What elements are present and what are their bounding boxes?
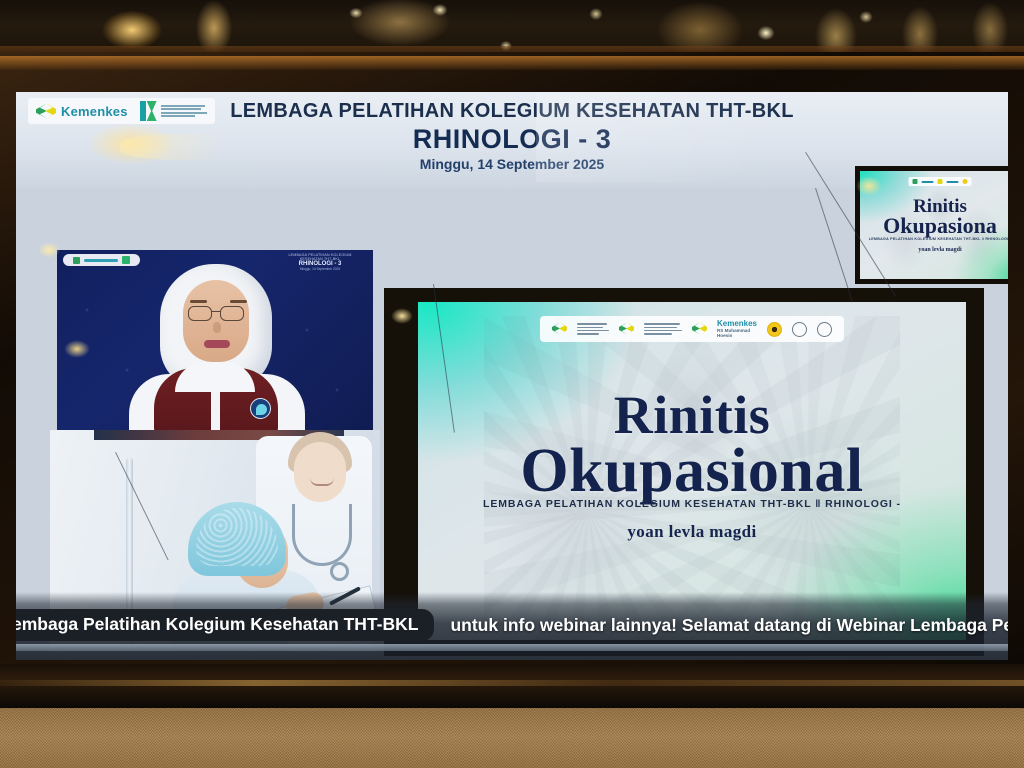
header-organization-title: LEMBAGA PELATIHAN KOLEGIUM KESEHATAN THT… [16, 100, 1008, 123]
slide-logo-strip: Kemenkes RS Muhammad Hoesin [540, 316, 844, 342]
slide-title-line1: Rinitis [418, 388, 966, 442]
badge-bar-icon [84, 259, 118, 262]
room-environment: Kemenkes LEMBAGA PELATIHAN KOLEGIUM KESE… [0, 0, 1024, 768]
webcam-kemenkes-badge [63, 254, 140, 266]
presentation-slide: Kemenkes RS Muhammad Hoesin Rinitis Okup… [418, 302, 966, 640]
ticker-content: embaga Pelatihan Kolegium Kesehatan THT-… [16, 608, 1008, 642]
webcam-background-branding: LEMBAGA PELATIHAN KOLEGIUM KESEHATAN THT… [271, 253, 369, 272]
ticker-channel-label: embaga Pelatihan Kolegium Kesehatan THT-… [16, 609, 434, 641]
slide-emblem-ring2-icon [817, 322, 832, 337]
slide-kemenkes-sub: RS Muhammad Hoesin [717, 328, 757, 338]
tv-bottom-bezel [0, 664, 1024, 708]
speaker-webcam-tile[interactable]: LEMBAGA PELATIHAN KOLEGIUM KESEHATAN THT… [57, 250, 373, 430]
slide-org1-lines-icon [577, 323, 609, 334]
bottom-ticker-bar: embaga Pelatihan Kolegium Kesehatan THT-… [16, 592, 1008, 660]
slide-kemenkes-label: Kemenkes RS Muhammad Hoesin [717, 320, 757, 339]
pip-thumbnail[interactable]: Rinitis Okupasiona LEMBAGA PELATIHAN KOL… [855, 166, 1008, 284]
pip-mark2-icon [938, 179, 943, 184]
slide-kemenkes2-mark-icon [692, 322, 707, 337]
slide-org2-lines-icon [644, 323, 682, 334]
pip-mark1-icon [913, 179, 918, 184]
pip-subtitle: LEMBAGA PELATIHAN KOLEGIUM KESEHATAN THT… [860, 237, 1008, 241]
pip-title-line2: Okupasiona [860, 215, 1008, 237]
slide-kemenkes-mark-icon [552, 322, 567, 337]
slide-org2-mark-icon [619, 322, 634, 337]
header-session-subject: RHINOLOGI - 3 [16, 124, 1008, 155]
speaker-vest-emblem-icon [250, 398, 271, 419]
pip-logo-strip [909, 177, 972, 186]
pip-author: yoan levla magdi [860, 247, 1008, 253]
speaker-face [183, 280, 249, 362]
doctor-head [294, 442, 346, 502]
slide-author: yoan levla magdi [418, 522, 966, 542]
speaker-eyeglasses [188, 306, 244, 319]
speaker-lips [204, 340, 230, 348]
slide-emblem-sun-icon [767, 322, 782, 337]
pip-bar1-icon [922, 181, 934, 183]
badge-mark-icon [73, 257, 80, 264]
television-display: Kemenkes LEMBAGA PELATIHAN KOLEGIUM KESE… [0, 52, 1024, 700]
speaker-brow-right [230, 300, 247, 303]
ticker-scrolling-text: untuk info webinar lainnya! Selamat data… [450, 615, 1008, 636]
webinar-screen[interactable]: Kemenkes LEMBAGA PELATIHAN KOLEGIUM KESE… [16, 92, 1008, 660]
speaker-brow-left [190, 300, 207, 303]
badge-mark2-icon [122, 256, 130, 264]
pip-slide-preview: Rinitis Okupasiona LEMBAGA PELATIHAN KOL… [860, 171, 1008, 279]
slide-subtitle: LEMBAGA PELATIHAN KOLEGIUM KESEHATAN THT… [418, 498, 966, 510]
slide-emblem-ring1-icon [792, 322, 807, 337]
slide-kemenkes-word: Kemenkes [717, 319, 757, 328]
slide-title-line2: Okupasional [418, 440, 966, 502]
cam-brand-line4: Minggu, 14 September 2025 [271, 268, 369, 272]
speaker-nose [213, 322, 221, 333]
pip-sun-icon [963, 179, 968, 184]
ticker-rail [16, 644, 1008, 651]
pip-bar2-icon [947, 181, 959, 183]
